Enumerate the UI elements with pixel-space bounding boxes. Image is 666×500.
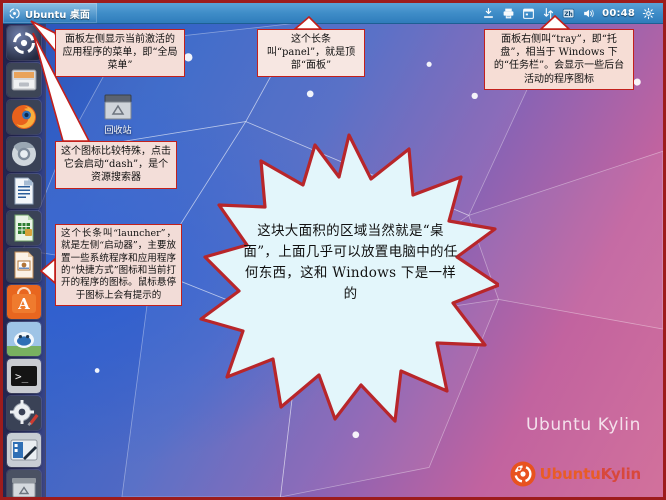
callout-panel: 这个长条叫“panel”，就是顶部“面板” [257,29,365,77]
printer-icon[interactable] [502,7,515,20]
launcher-item-libreoffice-calc-icon[interactable] [7,211,41,245]
callout-tray: 面板右侧叫“tray”，即“托盘”，相当于 Windows 下的“任务栏”。会显… [484,29,634,90]
unity-launcher: A >_ [3,23,46,497]
launcher-item-system-settings-icon[interactable] [7,396,41,430]
launcher-item-workspace-switcher-icon[interactable] [7,433,41,467]
calendar-icon[interactable] [522,7,535,20]
gear-icon[interactable] [642,7,655,20]
launcher-item-libreoffice-writer-icon[interactable] [7,174,41,208]
launcher-item-dash-home-icon[interactable] [7,26,41,60]
launcher-item-ubuntu-kylin-software-center-icon[interactable]: A [7,285,41,319]
launcher-item-libreoffice-impress-icon[interactable] [7,248,41,282]
system-tray: Zh 00:48 [482,3,663,23]
desktop-explanation-burst: 这块大面积的区域当然就是“桌面”，上面几乎可以放置电脑中的任何东西，这和 Win… [199,133,499,423]
logo-text-kylin: Kylin [601,465,641,483]
logo-text-ubuntu: Ubuntu [540,465,601,483]
global-menu-app-label[interactable]: Ubuntu 桌面 [3,3,97,23]
ubuntu-logo-icon [9,8,20,19]
ubuntu-kylin-logo-icon [510,461,536,487]
ubuntu-kylin-watermark: Ubuntu Kylin [526,415,641,435]
callout-global-menu: 面板左侧显示当前激活的应用程序的菜单，即“全局菜单” [55,29,185,77]
burst-text: 这块大面积的区域当然就是“桌面”，上面几乎可以放置电脑中的任何东西，这和 Win… [243,221,458,305]
desktop-screen: Ubuntu 桌面 [0,0,666,500]
desktop-trash-label: 回收站 [104,123,131,136]
ubuntu-kylin-logo: UbuntuKylin [510,461,641,487]
desktop-trash-shortcut[interactable]: 回收站 [91,93,145,136]
volume-icon[interactable] [582,7,595,20]
input-method-icon[interactable]: Zh [562,7,575,20]
top-panel: Ubuntu 桌面 [3,3,663,24]
launcher-item-chromium-icon[interactable] [7,137,41,171]
network-icon[interactable] [542,7,555,20]
launcher-item-terminal-icon[interactable]: >_ [7,359,41,393]
svg-text:>_: >_ [15,370,29,383]
clock-indicator[interactable]: 00:48 [602,8,635,19]
callout-launcher: 这个长条叫“launcher”，就是左侧“启动器”，主要放置一些系统程序和应用程… [55,224,182,306]
launcher-item-files-nautilus-icon[interactable] [7,63,41,97]
trash-bin-icon [103,93,133,121]
callout-dash: 这个图标比较特殊，点击它会启动“dash”，是个资源搜索器 [55,141,177,189]
ubuntu-kylin-logo-text: UbuntuKylin [540,465,641,483]
svg-text:A: A [17,295,30,313]
svg-text:Zh: Zh [564,10,573,17]
launcher-item-firefox-icon[interactable] [7,100,41,134]
launcher-item-trash-icon[interactable] [7,470,41,500]
launcher-item-ubuntu-help-icon[interactable] [7,322,41,356]
app-menu-title: Ubuntu 桌面 [25,6,90,21]
software-updates-icon[interactable] [482,7,495,20]
